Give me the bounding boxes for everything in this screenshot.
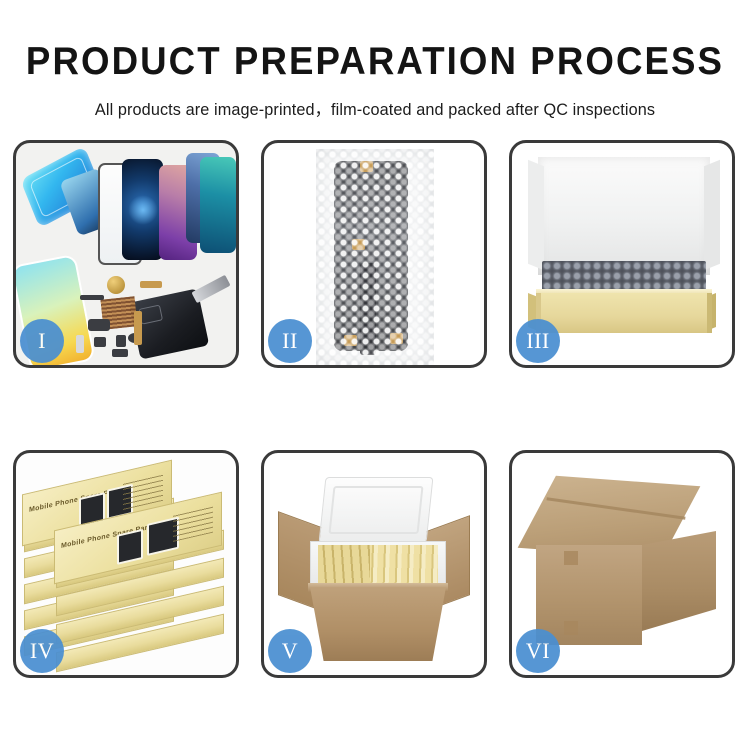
- box-lid-icon: [538, 157, 710, 275]
- process-step-panel-2[interactable]: II: [261, 140, 487, 368]
- packed-boxes-secondary-icon: [318, 545, 370, 583]
- speaker-module-icon: [107, 276, 125, 294]
- process-step-grid: I II III: [13, 140, 739, 678]
- flex-cable-icon: [134, 311, 142, 345]
- phone-display-dark-icon: [122, 159, 163, 260]
- page-subtitle: All products are image-printed，film-coat…: [6, 81, 745, 120]
- repair-tool-icon: [191, 275, 230, 303]
- step-badge-6: VI: [516, 629, 560, 673]
- process-step-panel-6[interactable]: VI: [509, 450, 735, 678]
- process-step-panel-4[interactable]: Mobile Phone Spare Parts Mobile Phone Sp…: [13, 450, 239, 678]
- page-header: PRODUCT PREPARATION PROCESS All products…: [0, 0, 750, 120]
- small-part-icon: [88, 319, 110, 331]
- bubble-texture-overlay-offset: [316, 149, 434, 365]
- step-3-illustration: III: [512, 143, 732, 365]
- box-window-icon: [117, 529, 143, 565]
- box-spec-lines-icon: [123, 473, 163, 510]
- step-badge-1: I: [20, 319, 64, 363]
- carton-tab-icon: [564, 551, 578, 565]
- carton-tab-icon: [564, 621, 578, 635]
- small-part-icon: [116, 335, 126, 347]
- step-4-illustration: Mobile Phone Spare Parts Mobile Phone Sp…: [16, 453, 236, 675]
- step-badge-3: III: [516, 319, 560, 363]
- carton-front-face-icon: [536, 545, 642, 645]
- small-part-icon: [112, 349, 128, 357]
- page-title: PRODUCT PREPARATION PROCESS: [23, 0, 728, 81]
- process-step-panel-5[interactable]: V: [261, 450, 487, 678]
- step-badge-5: V: [268, 629, 312, 673]
- box-spec-lines-icon: [173, 505, 213, 542]
- step-6-illustration: VI: [512, 453, 732, 675]
- small-part-icon: [94, 337, 106, 347]
- process-step-panel-3[interactable]: III: [509, 140, 735, 368]
- process-step-panel-1[interactable]: I: [13, 140, 239, 368]
- step-badge-4: IV: [20, 629, 64, 673]
- carton-side-icon: [642, 531, 716, 631]
- step-5-illustration: V: [264, 453, 484, 675]
- small-part-icon: [80, 295, 104, 300]
- step-badge-2: II: [268, 319, 312, 363]
- foam-lid-icon: [319, 477, 434, 543]
- flex-cable-icon: [76, 335, 84, 353]
- flex-cable-icon: [140, 281, 162, 288]
- yellow-box-front-icon: [536, 293, 712, 333]
- step-1-illustration: I: [16, 143, 236, 365]
- phone-display-teal-icon: [200, 157, 236, 253]
- step-2-illustration: II: [264, 143, 484, 365]
- carton-front-icon: [310, 587, 446, 661]
